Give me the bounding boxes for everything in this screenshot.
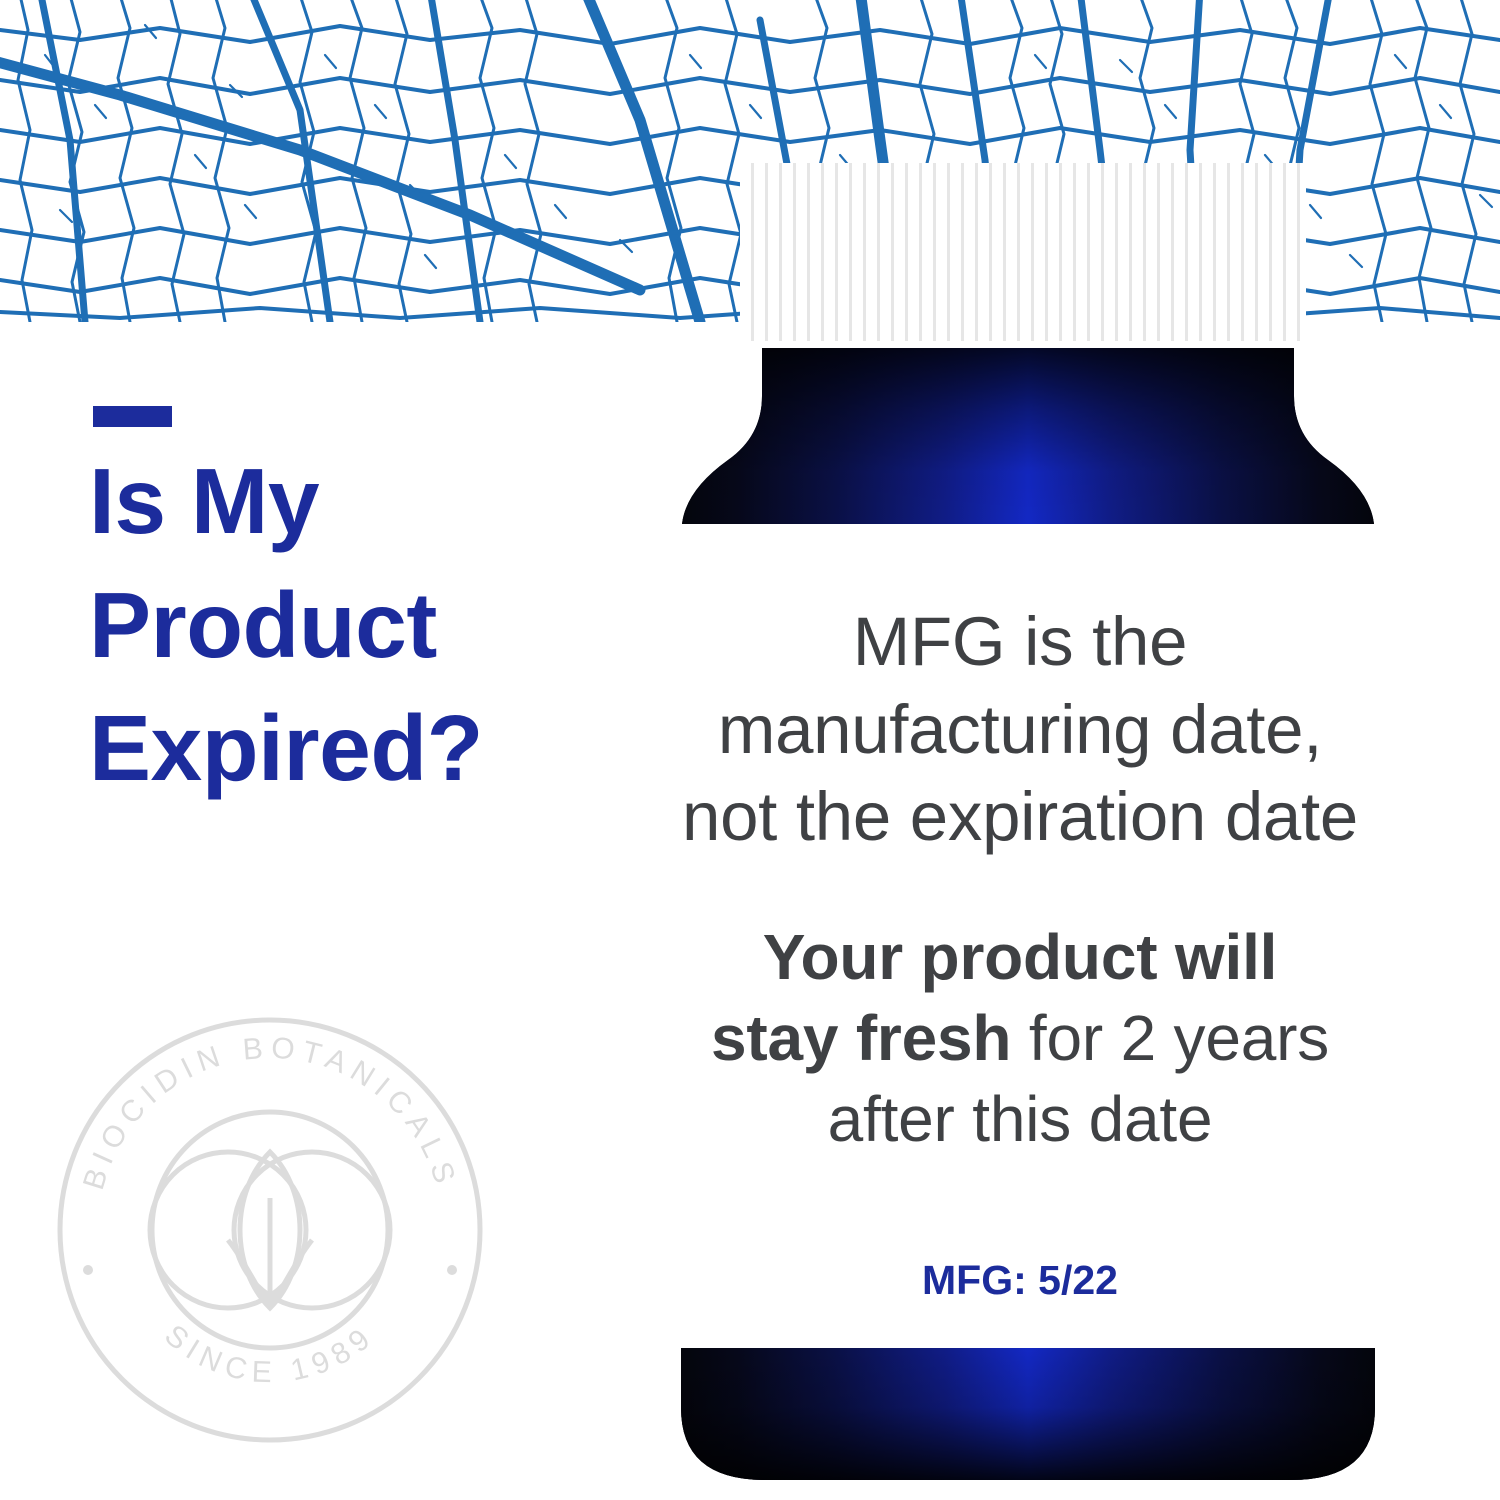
freshness-bold-2: stay fresh <box>711 1002 1011 1074</box>
infographic-canvas: Is My Product Expired? MFG is the manufa… <box>0 0 1500 1500</box>
headline-line-3: Expired? <box>89 687 609 811</box>
headline-line-1: Is My <box>89 440 609 564</box>
biocidin-botanicals-logo-watermark: BIOCIDIN BOTANICALS SINCE 1989 <box>42 1002 498 1458</box>
mfg-definition-line-2: manufacturing date, <box>620 686 1420 774</box>
headline-accent-bar <box>93 406 172 427</box>
freshness-statement: Your product will stay fresh for 2 years… <box>620 917 1420 1161</box>
mfg-definition-line-3: not the expiration date <box>620 773 1420 861</box>
freshness-line-3: after this date <box>620 1079 1420 1160</box>
bottle-shoulder <box>680 348 1376 524</box>
page-title: Is My Product Expired? <box>89 440 609 811</box>
freshness-light-2: for 2 years <box>1011 1002 1329 1074</box>
headline-line-2: Product <box>89 564 609 688</box>
mfg-date-label: MFG: 5/22 <box>620 1257 1420 1304</box>
bottle-base <box>681 1348 1375 1500</box>
freshness-line-2: stay fresh for 2 years <box>620 998 1420 1079</box>
logo-bottom-arc-text: SINCE 1989 <box>158 1319 381 1390</box>
mfg-definition-line-1: MFG is the <box>620 598 1420 686</box>
bottle-cap-ribbed <box>740 163 1306 349</box>
freshness-bold-1: Your product will <box>763 921 1278 993</box>
mfg-definition-text: MFG is the manufacturing date, not the e… <box>620 598 1420 861</box>
freshness-line-1: Your product will <box>620 917 1420 998</box>
explainer-copy: MFG is the manufacturing date, not the e… <box>620 598 1420 1161</box>
